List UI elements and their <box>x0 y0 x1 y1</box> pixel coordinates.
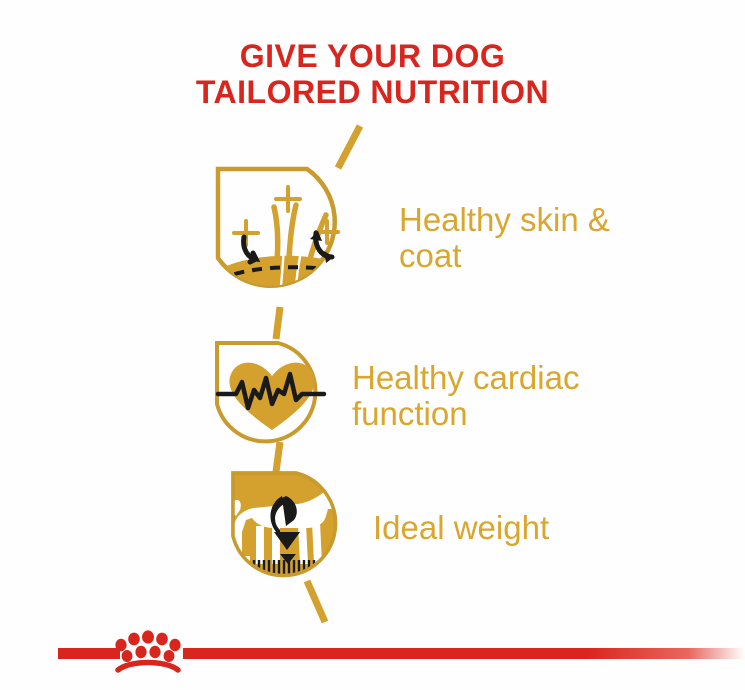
title-line-1: GIVE YOUR DOG <box>0 38 745 74</box>
arrow-left-icon <box>244 237 256 262</box>
feature-label-cardiac: Healthy cardiac function <box>352 360 652 432</box>
title-line-2: TAILORED NUTRITION <box>0 74 745 110</box>
page-title: GIVE YOUR DOG TAILORED NUTRITION <box>0 38 745 110</box>
poster-canvas: GIVE YOUR DOG TAILORED NUTRITION <box>0 0 745 690</box>
feature-row-ideal-weight: Ideal weight <box>228 468 633 588</box>
footer-bar-left <box>58 648 120 659</box>
skin-coat-icon <box>212 163 377 308</box>
royal-canin-crown-logo <box>112 626 184 674</box>
dog-weight-scale-icon <box>228 468 353 583</box>
crown-arc <box>118 663 178 671</box>
heart-ecg-icon <box>212 338 332 448</box>
feature-label-ideal-weight: Ideal weight <box>373 510 633 546</box>
dog-weight-scale-icon-wrap <box>228 468 353 588</box>
connector-skin-to-cardiac <box>268 305 290 341</box>
footer <box>0 610 745 690</box>
feature-label-skin-coat: Healthy skin & coat <box>399 202 667 274</box>
skin-coat-icon-wrap <box>212 163 377 313</box>
heart-ecg-icon-wrap <box>212 338 332 453</box>
feature-row-cardiac: Healthy cardiac function <box>212 338 652 453</box>
feature-row-skin-coat: Healthy skin & coat <box>212 163 667 313</box>
footer-bar-right <box>183 648 745 659</box>
